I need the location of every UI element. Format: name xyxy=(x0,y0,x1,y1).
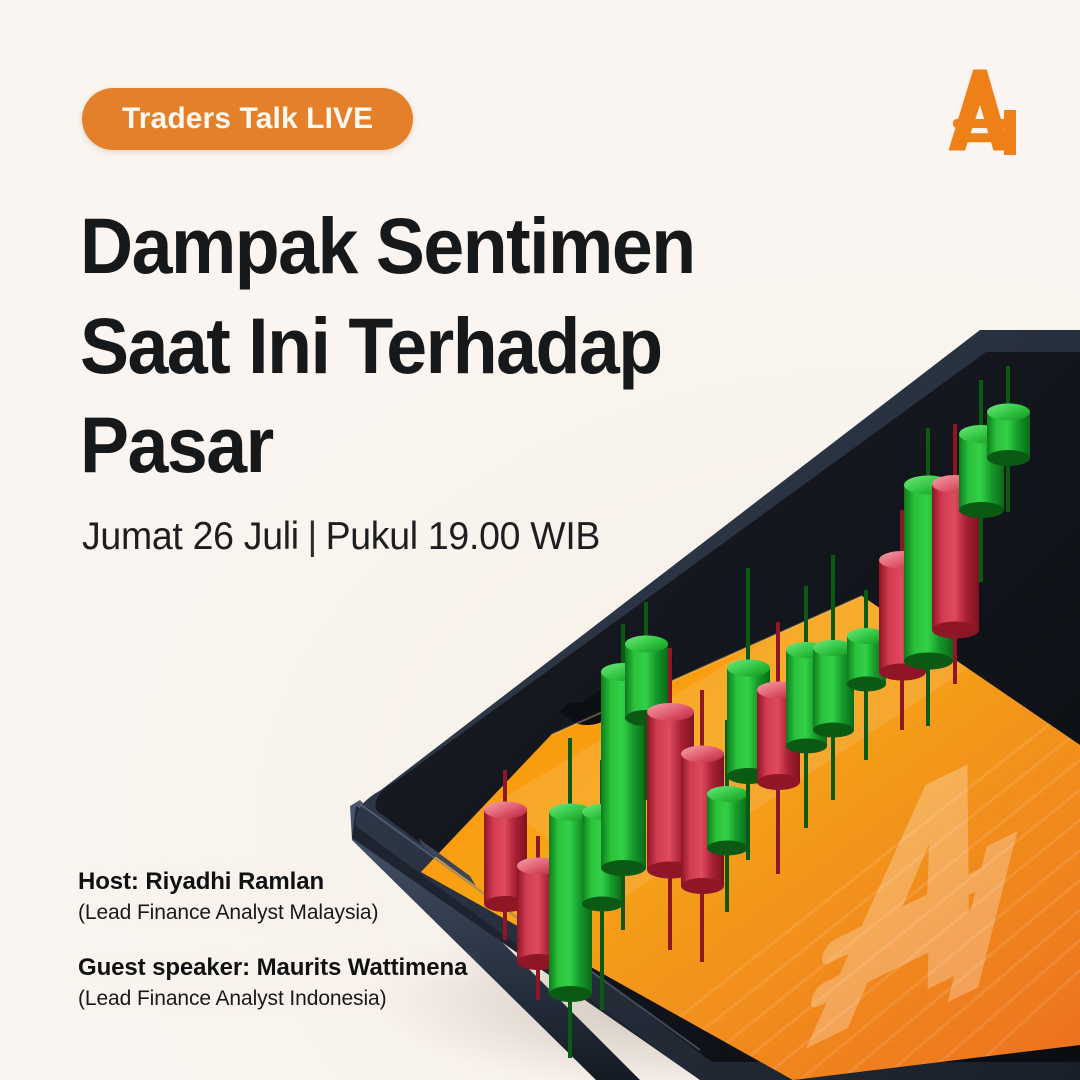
headline-line-3: Pasar xyxy=(80,395,768,495)
credit-guest-name: Guest speaker: Maurits Wattimena xyxy=(78,954,467,982)
credit-host-role: (Lead Finance Analyst Malaysia) xyxy=(78,901,378,925)
live-badge-label: Traders Talk LIVE xyxy=(122,102,373,136)
credit-host-name: Host: Riyadhi Ramlan xyxy=(78,868,378,896)
headline-line-1: Dampak Sentimen xyxy=(80,196,768,296)
schedule-line: Jumat 26 Juli|Pukul 19.00 WIB xyxy=(82,515,600,559)
aximtrade-a-logo-icon xyxy=(932,62,1028,158)
promo-poster: Traders Talk LIVE Dampak Sentimen Saat I… xyxy=(0,0,1080,1080)
headline-line-2: Saat Ini Terhadap xyxy=(80,296,768,396)
schedule-separator: | xyxy=(299,515,326,559)
credit-guest-role: (Lead Finance Analyst Indonesia) xyxy=(78,987,467,1011)
page-title: Dampak Sentimen Saat Ini Terhadap Pasar xyxy=(80,196,768,495)
schedule-time: Pukul 19.00 WIB xyxy=(326,515,601,558)
brand-logo xyxy=(932,62,1028,158)
live-badge: Traders Talk LIVE xyxy=(82,88,413,150)
credit-guest: Guest speaker: Maurits Wattimena (Lead F… xyxy=(78,954,467,1011)
credit-host: Host: Riyadhi Ramlan (Lead Finance Analy… xyxy=(78,868,378,925)
schedule-date: Jumat 26 Juli xyxy=(82,515,299,558)
